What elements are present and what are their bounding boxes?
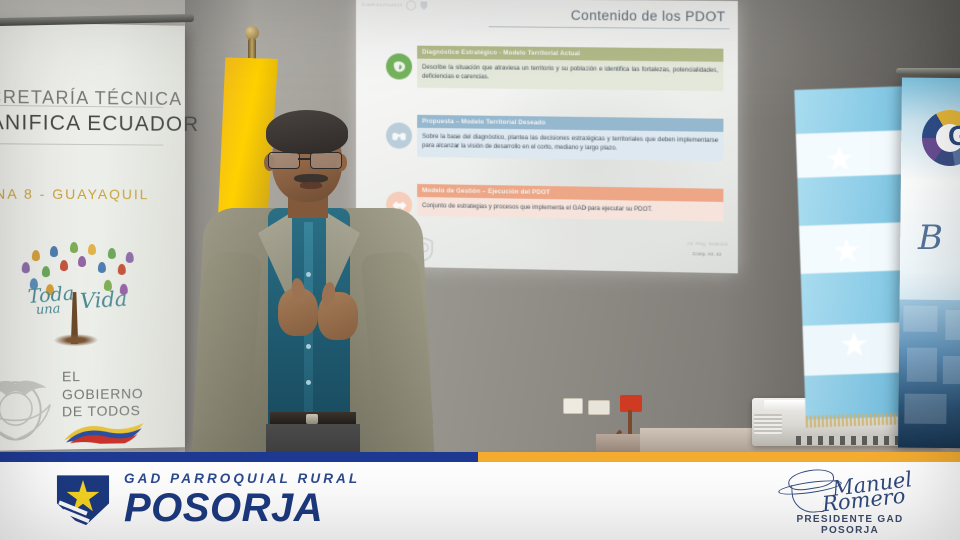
signature-portrait-icon: Manuel Romero	[770, 466, 930, 512]
slide-title-rule	[489, 26, 730, 29]
gobierno-text: EL GOBIERNO DE TODOS	[62, 367, 143, 421]
posorja-subtitle: GAD PARROQUIAL RURAL	[124, 472, 360, 486]
wall-outlet-data	[563, 398, 583, 414]
posorja-title: POSORJA	[124, 488, 360, 528]
slide-title: Contenido de los PDOT	[571, 8, 726, 25]
banner-right-ring-letter: G	[948, 120, 960, 152]
slide-citation: Cootp. Art. 42	[692, 251, 721, 257]
posorja-logo: GAD PARROQUIAL RURAL POSORJA	[52, 472, 360, 528]
posorja-shield-icon	[52, 472, 114, 528]
vida-text: Vida	[79, 287, 127, 314]
belt-buckle	[306, 414, 318, 424]
una-text: una	[36, 302, 61, 318]
signature-role: PRESIDENTE GAD POSORJA	[770, 514, 930, 536]
box-body: Describe la situación que atraviesa un t…	[417, 59, 723, 92]
box-body: Conjunto de estrategias y procesos que i…	[417, 197, 723, 222]
wall-outlet-power	[588, 400, 610, 415]
footer-divider	[0, 452, 960, 462]
slide-citation-faint: Art. Prog. Territorial	[687, 241, 728, 247]
projector-vent	[754, 414, 782, 434]
screenshot-root: PLANIFICA ECUADOR Contenido de los PDOT …	[0, 0, 960, 540]
seal-circle-icon	[406, 0, 416, 10]
gobierno-de-todos-logo: EL GOBIERNO DE TODOS	[0, 363, 167, 461]
flag-star-icon	[833, 238, 860, 265]
ecuador-ribbon-icon	[62, 421, 146, 444]
slide-header-logo: PLANIFICA ECUADOR	[362, 0, 428, 11]
slide-box-propuesta: Propuesta – Modelo Territorial Deseado S…	[386, 114, 723, 161]
ecuador-coat-of-arms-icon	[0, 366, 54, 448]
banner-left-zone: ZONA 8 - GUAYAQUIL	[0, 185, 167, 202]
president-signature-logo: Manuel Romero PRESIDENTE GAD POSORJA	[770, 466, 930, 536]
divider-blue	[0, 452, 478, 462]
slide-header-logo-text: PLANIFICA ECUADOR	[362, 3, 402, 8]
banner-right-script-letter: B	[918, 218, 943, 258]
hair	[266, 110, 348, 154]
banner-left-line1: SECRETARÍA TÉCNICA	[0, 86, 175, 110]
guayas-flag	[794, 86, 915, 420]
glasses-icon	[268, 152, 348, 167]
slide-box-diagnostico: Diagnóstico Estratégico - Modelo Territo…	[386, 45, 723, 91]
toda-una-vida-tree-logo: Toda una Vida	[6, 242, 152, 353]
banner-right-pole	[896, 68, 960, 75]
flag-star-icon	[826, 146, 853, 173]
gobierno-line1: EL	[62, 367, 143, 385]
box-body: Sobre la base del diagnóstico, plantea l…	[417, 128, 723, 161]
gobierno-line2: GOBIERNO	[62, 385, 143, 404]
banner-left-line2: PLANIFICA ECUADOR	[0, 111, 175, 137]
banner-secretaria-tecnica: SECRETARÍA TÉCNICA PLANIFICA ECUADOR ZON…	[0, 22, 185, 451]
gobierno-line3: DE TODOS	[62, 402, 143, 421]
shield-icon	[420, 1, 427, 10]
presenter	[196, 112, 428, 455]
divider-orange	[478, 452, 960, 462]
mouth	[300, 182, 322, 189]
flag-star-icon	[841, 332, 868, 359]
map-leaf-icon	[386, 53, 412, 79]
tree-root	[54, 334, 98, 346]
slide-box-modelo-gestion: Modelo de Gestión – Ejecución del PDOT C…	[386, 183, 723, 223]
